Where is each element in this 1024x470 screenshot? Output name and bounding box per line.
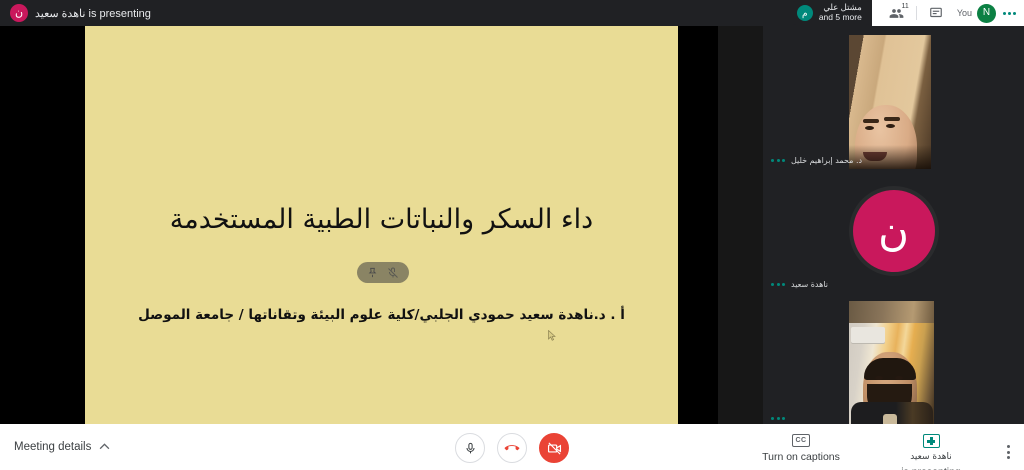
participant-rail: د. محمد إبراهيم خليل ن ناهدة سعيد <box>763 26 1024 424</box>
closed-captions-icon: CC <box>792 434 810 447</box>
meeting-details-button[interactable]: Meeting details <box>14 441 110 453</box>
tile-footer: ناهدة سعيد <box>763 280 1024 289</box>
avatar: م <box>797 5 813 21</box>
avatar: N <box>977 4 996 23</box>
pin-icon[interactable] <box>367 267 378 278</box>
top-bar-actions: 11 You N <box>872 0 1024 26</box>
top-bar: ن ناهدة سعيد is presenting م مشتل علي an… <box>0 0 1024 26</box>
bottom-bar: Meeting details <box>0 424 1024 470</box>
participant-name: د. محمد إبراهيم خليل <box>791 156 862 165</box>
chevron-up-icon[interactable] <box>99 441 110 453</box>
you-label: You <box>957 8 972 18</box>
mic-off-icon[interactable] <box>387 267 399 279</box>
top-bar-right: م مشتل علي and 5 more 11 <box>792 0 1024 26</box>
camera-off-icon[interactable] <box>539 433 569 463</box>
more-options-icon[interactable] <box>771 159 785 162</box>
presentation-stage[interactable]: داء السكر والنباتات الطبية المستخدمة أ .… <box>0 26 763 424</box>
cursor-arrow-icon <box>548 330 556 341</box>
table-row[interactable]: د. محمد إبراهيم خليل <box>763 26 1024 169</box>
bottom-bar-right: CC Turn on captions ناهدة سعيد is presen… <box>747 429 1016 470</box>
call-controls <box>455 433 569 463</box>
more-options-icon[interactable] <box>1003 12 1016 15</box>
slide-title: داء السكر والنباتات الطبية المستخدمة <box>85 204 678 235</box>
chat-icon[interactable] <box>921 0 951 26</box>
presenting-status: is presenting <box>901 466 961 470</box>
people-icon[interactable]: 11 <box>882 0 912 26</box>
avatar: ن <box>853 190 935 272</box>
presenting-text: ناهدة سعيد is presenting <box>35 7 151 20</box>
presenting-status-button[interactable]: ناهدة سعيد is presenting <box>877 429 985 470</box>
present-screen-icon <box>923 434 940 448</box>
participant-video <box>849 301 934 424</box>
presenting-name: ناهدة سعيد <box>910 452 952 462</box>
more-options-icon[interactable] <box>771 417 785 420</box>
tile-footer <box>763 417 1024 420</box>
hangup-phone-icon[interactable] <box>497 433 527 463</box>
participant-name: ناهدة سعيد <box>791 280 828 289</box>
avatar: ن <box>10 4 28 22</box>
captions-label: Turn on captions <box>762 451 840 463</box>
shared-slide[interactable]: داء السكر والنباتات الطبية المستخدمة أ .… <box>85 26 678 424</box>
microphone-icon[interactable] <box>455 433 485 463</box>
participants-count: 11 <box>902 3 909 10</box>
presenter-name: ناهدة سعيد <box>35 8 85 20</box>
table-row[interactable] <box>763 293 1024 424</box>
more-options-icon[interactable] <box>771 283 785 286</box>
table-row[interactable]: ن ناهدة سعيد <box>763 169 1024 293</box>
participant-more-count: and 5 more <box>819 13 862 23</box>
meeting-window: ن ناهدة سعيد is presenting م مشتل علي an… <box>0 0 1024 470</box>
slide-hover-controls[interactable] <box>357 262 409 283</box>
presenting-status: is presenting <box>89 8 151 20</box>
meeting-details-label: Meeting details <box>14 441 91 453</box>
divider <box>916 6 917 20</box>
tile-footer: د. محمد إبراهيم خليل <box>763 156 1024 165</box>
participant-video <box>849 35 931 169</box>
participants-chip[interactable]: م مشتل علي and 5 more <box>792 1 870 25</box>
more-options-vertical-icon[interactable] <box>1007 429 1016 459</box>
turn-on-captions-button[interactable]: CC Turn on captions <box>747 429 855 463</box>
slide-subtitle: أ . د.ناهدة سعيد حمودي الجلبي/كلية علوم … <box>85 307 678 323</box>
stage-background-right <box>718 26 763 424</box>
presenting-indicator: ن ناهدة سعيد is presenting <box>0 4 151 22</box>
